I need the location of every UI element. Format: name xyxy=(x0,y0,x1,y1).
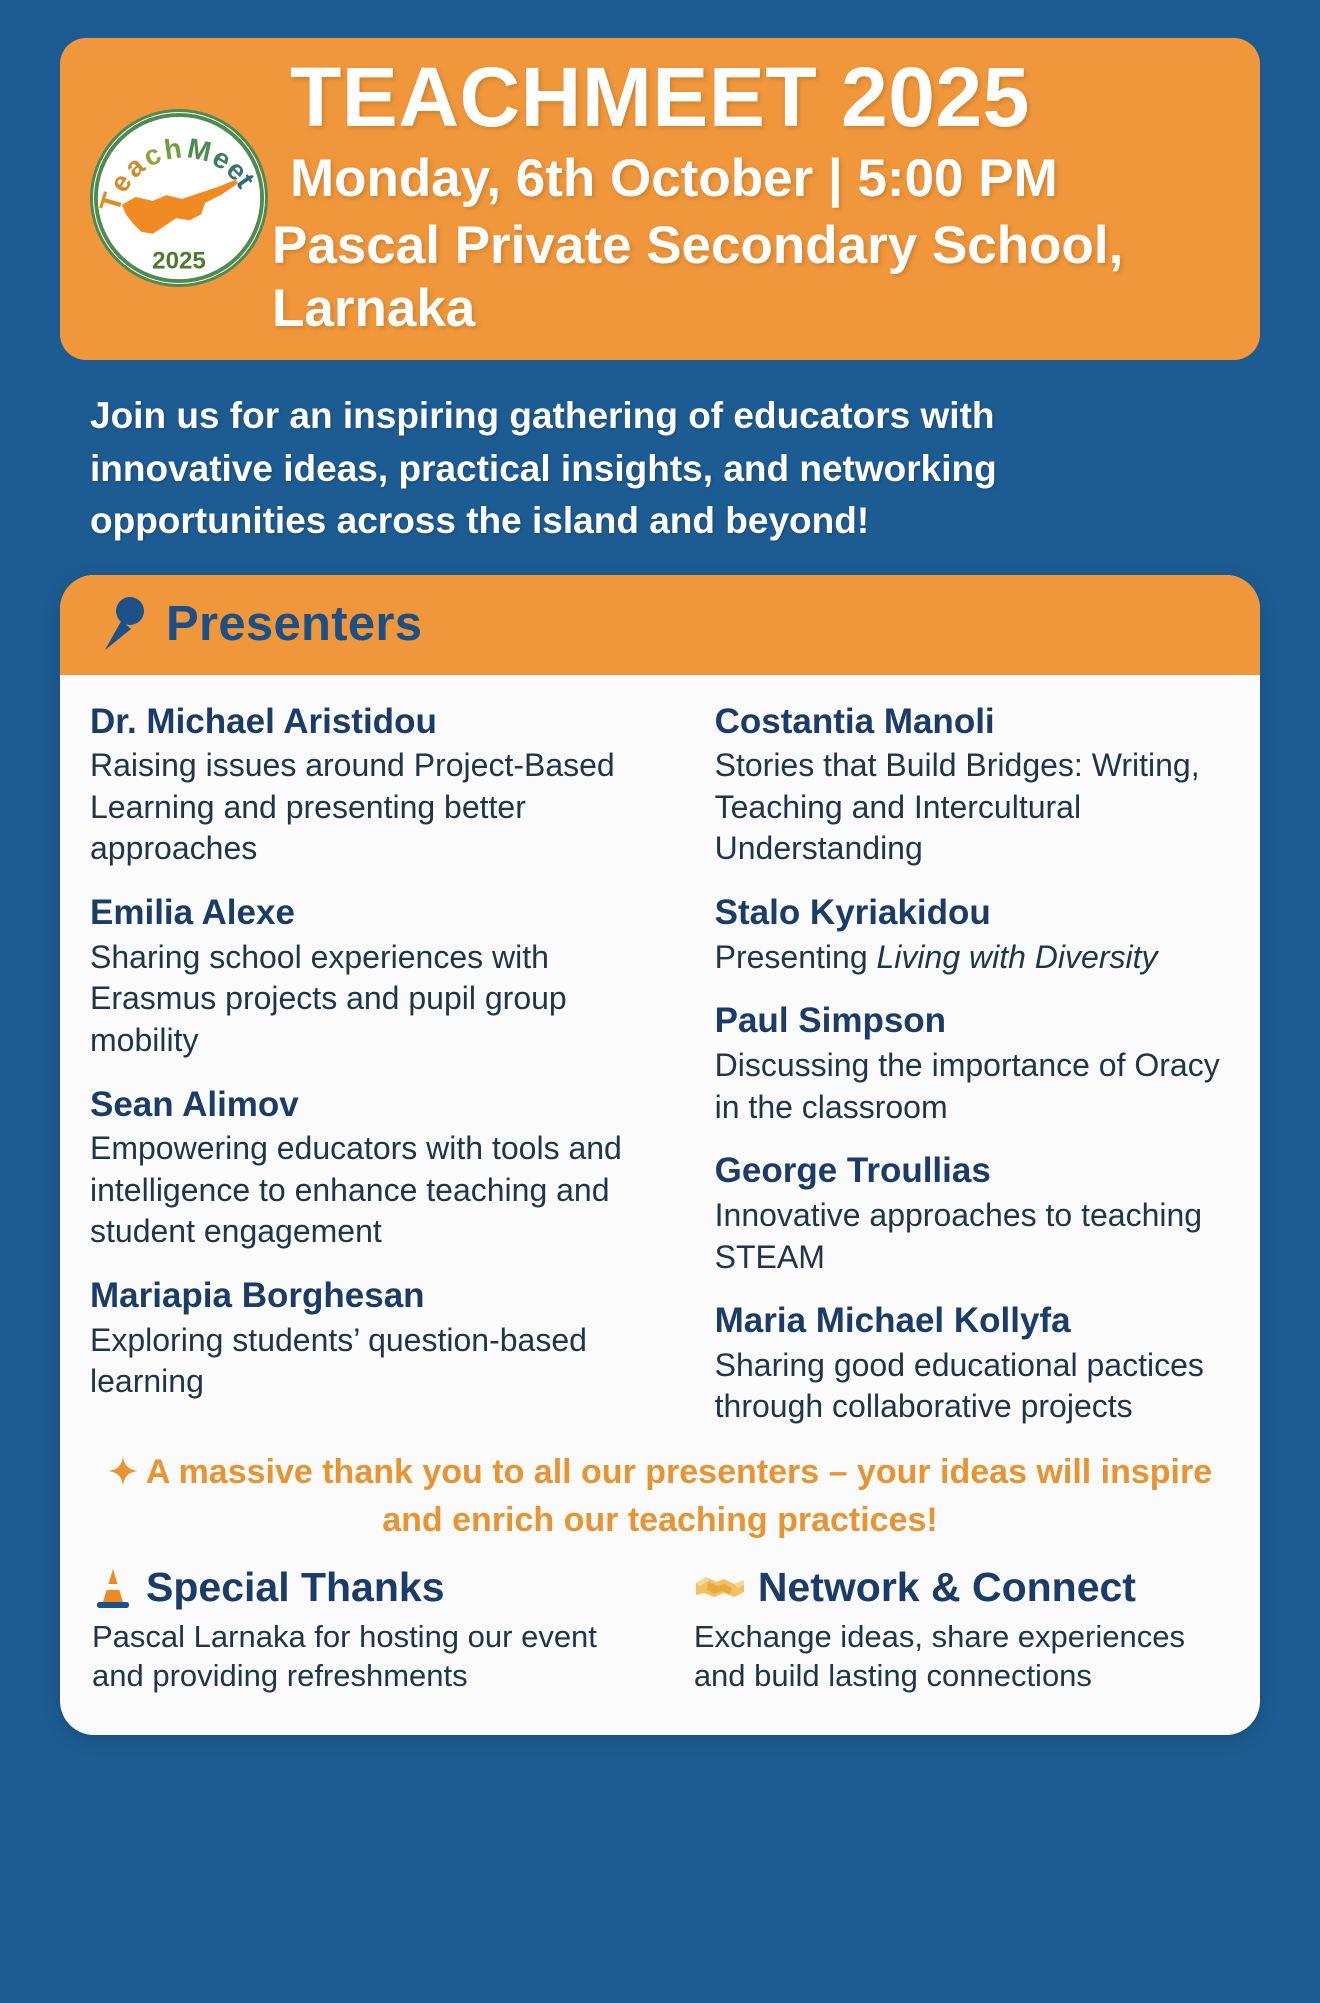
thanks-text: A massive thank you to all our presenter… xyxy=(146,1453,1212,1539)
presenter-name: Stalo Kyriakidou xyxy=(715,892,1230,935)
presenter-item: Sean Alimov Empowering educators with to… xyxy=(90,1084,651,1253)
special-thanks-header: Special Thanks xyxy=(92,1565,652,1610)
network-connect-header: Network & Connect xyxy=(694,1565,1228,1610)
presenter-item: George Troullias Innovative approaches t… xyxy=(715,1150,1230,1278)
presenter-description: Empowering educators with tools and inte… xyxy=(90,1128,651,1253)
presenter-name: Paul Simpson xyxy=(715,1000,1230,1043)
presenter-description-title: Living with Diversity xyxy=(877,939,1158,975)
presenters-header-bar: Presenters xyxy=(60,575,1260,675)
network-connect-section: Network & Connect Exchange ideas, share … xyxy=(668,1565,1228,1694)
microphone-icon xyxy=(96,595,148,653)
presenter-item: Maria Michael Kollyfa Sharing good educa… xyxy=(715,1300,1230,1428)
presenters-title: Presenters xyxy=(166,596,422,652)
handshake-icon xyxy=(694,1567,746,1609)
presenter-name: Sean Alimov xyxy=(90,1084,651,1127)
presenters-left-column: Dr. Michael Aristidou Raising issues aro… xyxy=(90,701,651,1428)
presenters-right-column: Costantia Manoli Stories that Build Brid… xyxy=(669,701,1230,1428)
presenter-description: Stories that Build Bridges: Writing, Tea… xyxy=(715,745,1230,870)
event-venue: Pascal Private Secondary School, Larnaka xyxy=(272,214,1226,341)
presenter-item: Mariapia Borghesan Exploring students’ q… xyxy=(90,1275,651,1403)
presenter-description: Exploring students’ question-based learn… xyxy=(90,1320,651,1403)
footer-sections: Special Thanks Pascal Larnaka for hostin… xyxy=(60,1543,1260,1734)
presenter-name: Dr. Michael Aristidou xyxy=(90,701,651,744)
presenters-card: Presenters Dr. Michael Aristidou Raising… xyxy=(60,575,1260,1735)
presenter-description-prefix: Presenting xyxy=(715,939,877,975)
sparkle-icon xyxy=(108,1453,138,1498)
special-thanks-section: Special Thanks Pascal Larnaka for hostin… xyxy=(92,1565,652,1694)
svg-text:2025: 2025 xyxy=(152,248,206,275)
presenter-description: Discussing the importance of Oracy in th… xyxy=(715,1045,1230,1128)
presenter-item: Costantia Manoli Stories that Build Brid… xyxy=(715,701,1230,870)
presenter-name: Costantia Manoli xyxy=(715,701,1230,744)
presenter-description: Sharing good educational pactices throug… xyxy=(715,1345,1230,1428)
traffic-cone-icon xyxy=(92,1566,134,1610)
special-thanks-body: Pascal Larnaka for hosting our event and… xyxy=(92,1617,652,1695)
special-thanks-title: Special Thanks xyxy=(146,1565,445,1610)
presenter-item: Dr. Michael Aristidou Raising issues aro… xyxy=(90,701,651,870)
network-connect-title: Network & Connect xyxy=(758,1565,1136,1610)
page-title: TEACHMEET 2025 xyxy=(290,55,1226,141)
presenter-name: George Troullias xyxy=(715,1150,1230,1193)
poster-root: T e a c h M e xyxy=(0,38,1320,2003)
presenter-item: Emilia Alexe Sharing school experiences … xyxy=(90,892,651,1061)
presenter-description: Sharing school experiences with Erasmus … xyxy=(90,937,651,1062)
thanks-banner: A massive thank you to all our presenter… xyxy=(96,1450,1224,1543)
presenter-name: Maria Michael Kollyfa xyxy=(715,1300,1230,1343)
intro-paragraph: Join us for an inspiring gathering of ed… xyxy=(90,390,1120,548)
header-card: T e a c h M e xyxy=(60,38,1260,360)
presenter-item: Stalo Kyriakidou Presenting Living with … xyxy=(715,892,1230,978)
presenter-item: Paul Simpson Discussing the importance o… xyxy=(715,1000,1230,1128)
teachmeet-cyprus-logo: T e a c h M e xyxy=(90,109,268,287)
presenter-name: Mariapia Borghesan xyxy=(90,1275,651,1318)
presenters-columns: Dr. Michael Aristidou Raising issues aro… xyxy=(60,675,1260,1428)
presenter-name: Emilia Alexe xyxy=(90,892,651,935)
network-connect-body: Exchange ideas, share experiences and bu… xyxy=(694,1617,1228,1695)
presenter-description: Raising issues around Project-Based Lear… xyxy=(90,745,651,870)
presenter-description: Presenting Living with Diversity xyxy=(715,937,1230,979)
header-text: TEACHMEET 2025 Monday, 6th October | 5:0… xyxy=(290,55,1226,341)
event-datetime: Monday, 6th October | 5:00 PM xyxy=(290,147,1226,212)
presenter-description: Innovative approaches to teaching STEAM xyxy=(715,1195,1230,1278)
